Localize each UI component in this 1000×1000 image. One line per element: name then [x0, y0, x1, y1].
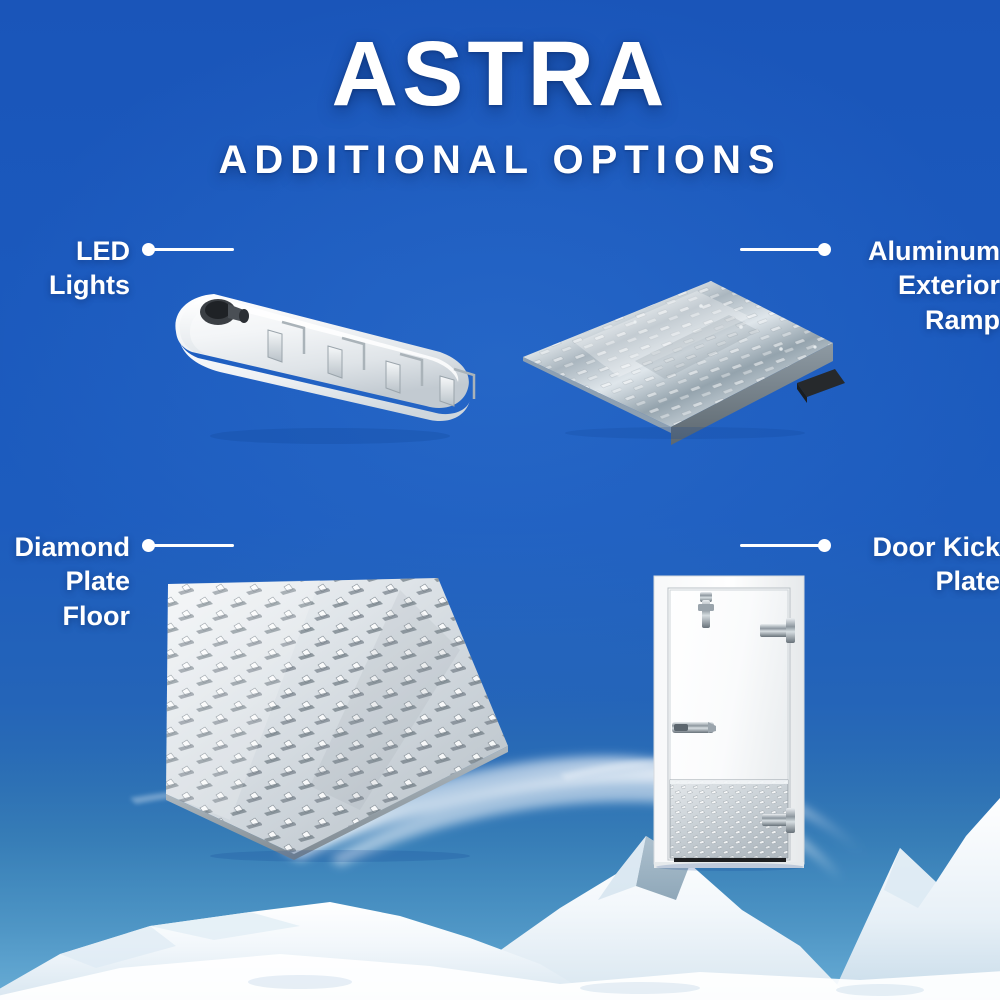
leader-line-led-lights — [142, 234, 234, 264]
callout-door-kick-plate[interactable]: Door Kick Plate — [740, 530, 1000, 599]
leader-bar — [152, 248, 234, 251]
callout-diamond-plate-floor[interactable]: Diamond Plate Floor — [0, 530, 260, 633]
door-handle — [672, 722, 716, 733]
poster-header: ASTRA ADDITIONAL OPTIONS — [0, 28, 1000, 182]
page-title: ASTRA — [0, 28, 1000, 122]
callout-label-aluminum-exterior-ramp: Aluminum Exterior Ramp — [843, 234, 1000, 337]
leader-bar — [740, 248, 821, 251]
callout-led-lights[interactable]: LED Lights — [0, 234, 260, 303]
callout-label-led-lights: LED Lights — [0, 234, 130, 303]
callout-label-diamond-plate-floor: Diamond Plate Floor — [0, 530, 130, 633]
callout-label-door-kick-plate: Door Kick Plate — [843, 530, 1000, 599]
leader-dot-icon — [818, 243, 831, 256]
leader-bar — [740, 544, 821, 547]
leader-line-door-kick-plate — [740, 530, 831, 560]
leader-line-aluminum-exterior-ramp — [740, 234, 831, 264]
leader-dot-icon — [818, 539, 831, 552]
page-subtitle: ADDITIONAL OPTIONS — [0, 138, 1000, 182]
product-image-cooler-door-with-kick-plate — [650, 570, 865, 870]
callout-aluminum-exterior-ramp[interactable]: Aluminum Exterior Ramp — [740, 234, 1000, 337]
poster-canvas: ASTRA ADDITIONAL OPTIONS — [0, 0, 1000, 1000]
leader-bar — [152, 544, 234, 547]
leader-line-diamond-plate-floor — [142, 530, 234, 560]
